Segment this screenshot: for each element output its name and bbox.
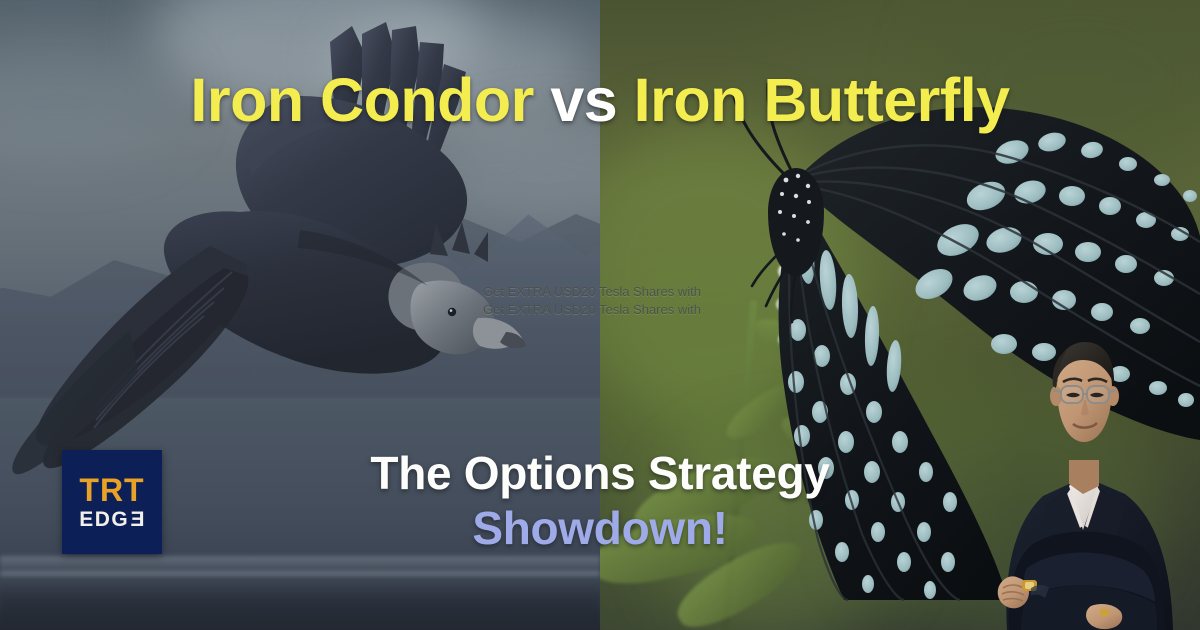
title-separator: vs [550, 66, 617, 134]
subtitle-line-2: Showdown! [0, 500, 1200, 556]
thumbnail-canvas: Iron Condor vs Iron Butterfly Get EXTRA … [0, 0, 1200, 630]
promo-line-1: Get EXTRA USD20 Tesla Shares with [483, 283, 701, 301]
logo-bottom-text: EDGE [79, 508, 145, 532]
logo-top-text: TRT [79, 473, 144, 507]
subtitle-block: The Options Strategy Showdown! [0, 446, 1200, 556]
title-part-2: Iron Butterfly [634, 66, 1010, 134]
title-part-1: Iron Condor [190, 66, 534, 134]
promo-line-2: Get EXTRA USD20 Tesla Shares with [483, 301, 701, 319]
logo-bottom-prefix: EDG [79, 508, 129, 532]
promo-overlay-text: Get EXTRA USD20 Tesla Shares with Get EX… [483, 283, 701, 319]
trt-edge-logo[interactable]: TRT EDGE [62, 450, 162, 554]
page-title: Iron Condor vs Iron Butterfly [0, 68, 1200, 132]
logo-reversed-e-glyph: E [129, 508, 145, 532]
subtitle-line-1: The Options Strategy [0, 446, 1200, 500]
